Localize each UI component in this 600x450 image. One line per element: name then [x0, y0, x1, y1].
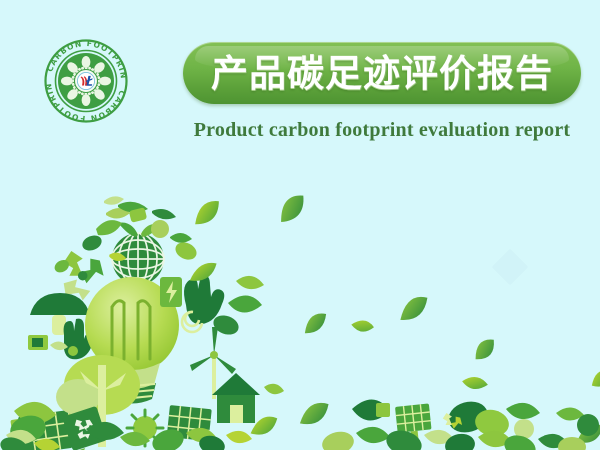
floating-leaf-icon	[470, 336, 500, 363]
carbon-footprint-seal-logo: CARBON FOOTPRINT · CARBON FOOTPRINT ·	[42, 37, 130, 125]
floating-leaf-icon	[299, 310, 331, 337]
floating-leaf-icon	[273, 190, 311, 226]
floating-leaf-icon	[394, 293, 432, 324]
eco-icon-collage-footprint	[0, 185, 600, 450]
floating-leaf-icon	[461, 375, 488, 391]
floating-leaf-icon	[588, 367, 600, 390]
floating-leaf-icon	[189, 197, 225, 228]
floating-leaf-icon	[350, 316, 375, 335]
house-icon	[212, 373, 284, 423]
battery-icon	[28, 335, 68, 350]
slide-canvas: CARBON FOOTPRINT · CARBON FOOTPRINT ·	[0, 0, 600, 450]
title-banner: 产品碳足迹评价报告	[183, 42, 581, 104]
eco-icon-cluster-bottom-right	[320, 397, 599, 450]
floating-leaf-icon	[295, 399, 333, 429]
floating-leaf-icon	[187, 261, 220, 283]
page-title: 产品碳足迹评价报告	[211, 55, 553, 92]
page-subtitle: Product carbon footprint evaluation repo…	[183, 119, 581, 142]
battery-charge-icon	[160, 277, 182, 307]
